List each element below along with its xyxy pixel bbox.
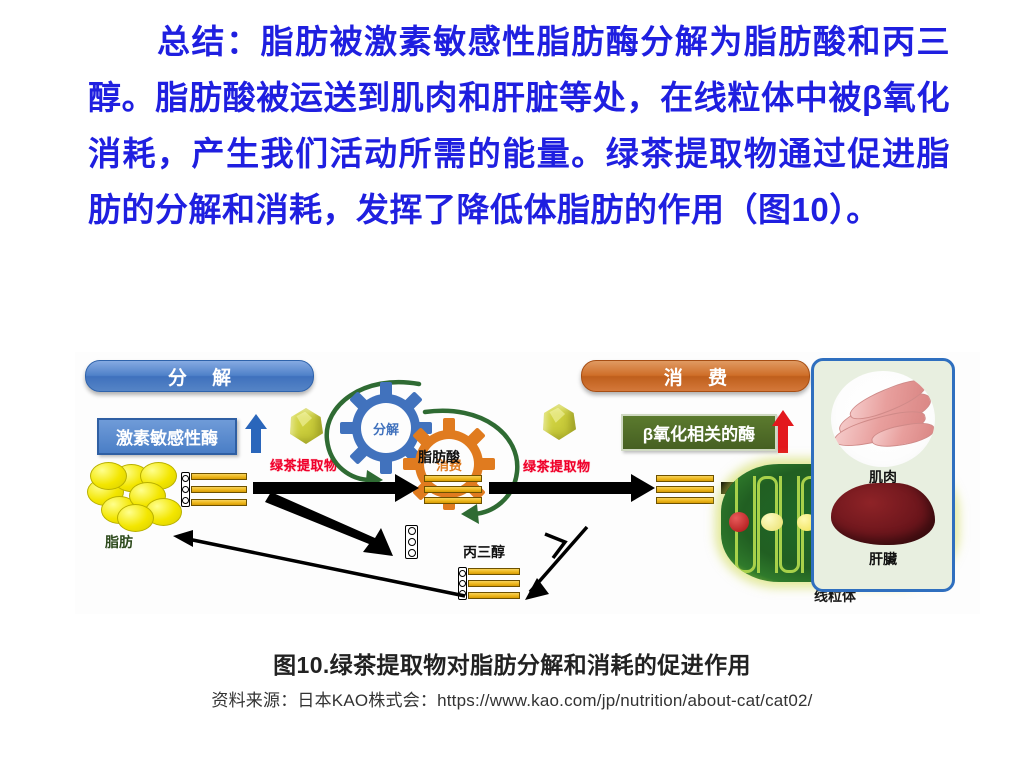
arrow-stem [778, 423, 788, 453]
glycerol-backbone [181, 472, 190, 507]
glycerol-backbone [458, 567, 467, 600]
banner-decomposition: 分 解 [85, 360, 314, 392]
slide-root: 总结：脂肪被激素敏感性脂肪酶分解为脂肪酸和丙三醇。脂肪酸被运送到肌肉和肝脏等处，… [0, 0, 1024, 762]
summary-paragraph: 总结：脂肪被激素敏感性脂肪酶分解为脂肪酸和丙三醇。脂肪酸被运送到肌肉和肝脏等处，… [88, 14, 950, 238]
arrow-stem [251, 427, 261, 453]
label-fatty-acid: 脂肪酸 [418, 447, 460, 467]
figure-source: 资料来源：日本KAO株式会：https://www.kao.com/jp/nut… [0, 686, 1024, 711]
paragraph-text: 总结：脂肪被激素敏感性脂肪酶分解为脂肪酸和丙三醇。脂肪酸被运送到肌肉和肝脏等处，… [88, 23, 950, 228]
fatty-acid-chains [468, 568, 520, 599]
label-hormone-sensitive-lipase: 激素敏感性酶 [97, 418, 237, 455]
liver-icon [831, 483, 935, 545]
figure-caption: 图10.绿茶提取物对脂肪分解和消耗的促进作用 [0, 646, 1024, 680]
triglyceride-resynthesis-icon [458, 567, 520, 600]
triglyceride-molecule-icon [181, 472, 247, 507]
fatty-acid-chains [424, 475, 482, 504]
label-fat: 脂肪 [105, 532, 133, 552]
fatty-acid-molecule-icon [424, 474, 482, 505]
fatty-acid-chains [191, 473, 247, 506]
catechin-molecule-icon [542, 404, 576, 440]
label-beta-oxidation-enzyme: β氧化相关的酶 [621, 414, 777, 451]
muscle-icon [831, 371, 935, 467]
banner-consumption: 消 费 [581, 360, 810, 392]
glycerol-molecule-icon [405, 525, 418, 559]
label-glycerol: 丙三醇 [463, 542, 505, 562]
organ-panel: 肌肉 肝臟 [811, 358, 955, 592]
fat-globule-cluster-icon [85, 460, 180, 528]
label-liver: 肝臟 [814, 549, 952, 569]
fatty-acid-molecule-icon [656, 474, 714, 505]
figure-diagram: 分 解 消 费 激素敏感性酶 β氧化相关的酶 绿茶提取物 绿茶提取物 [75, 352, 980, 614]
fatty-acid-chains [656, 475, 714, 504]
